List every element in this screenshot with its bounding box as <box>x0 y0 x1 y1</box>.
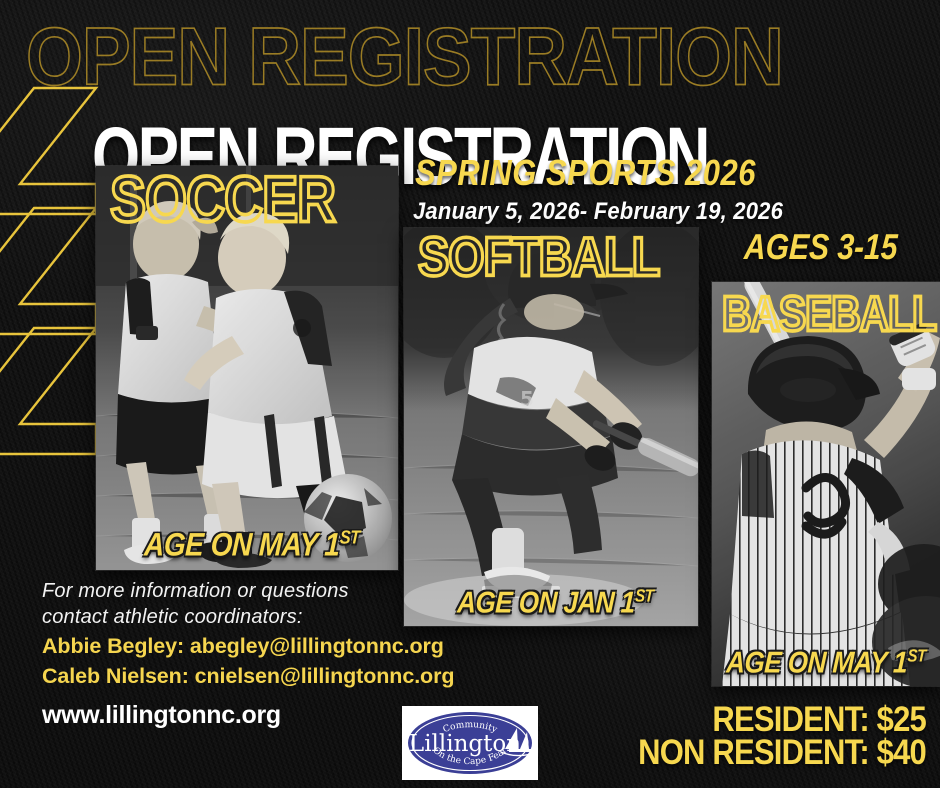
age-label-softball: AGE ON JAN 1ST <box>457 587 654 617</box>
age-label-soccer-suffix: ST <box>339 527 360 548</box>
contact-intro-line-1: For more information or questions <box>42 578 522 604</box>
age-label-baseball-suffix: ST <box>907 646 926 666</box>
fees-block: RESIDENT: $25 NON RESIDENT: $40 <box>638 700 926 767</box>
age-label-baseball: AGE ON MAY 1ST <box>726 647 927 677</box>
registration-date-range: January 5, 2026- February 19, 2026 <box>413 197 783 226</box>
age-label-soccer-text: AGE ON MAY 1 <box>143 527 340 563</box>
ghost-headline: OPEN REGISTRATION <box>26 16 940 97</box>
sport-panel-softball: 5 <box>404 228 698 626</box>
sport-title-baseball: BASEBALL <box>722 290 936 339</box>
age-label-softball-suffix: ST <box>635 586 654 606</box>
coordinator-email-1[interactable]: Abbie Begley: abegley@lillingtonnc.org <box>42 631 522 662</box>
contact-intro-line-2: contact athletic coordinators: <box>42 604 522 630</box>
sport-panel-baseball <box>712 282 940 686</box>
sport-title-softball: SOFTBALL <box>418 229 659 284</box>
baseball-photo <box>712 282 940 686</box>
age-label-soccer: AGE ON MAY 1ST <box>144 529 360 561</box>
softball-photo: 5 <box>404 228 698 626</box>
age-label-baseball-text: AGE ON MAY 1 <box>726 645 908 680</box>
fee-non-resident: NON RESIDENT: $40 <box>638 733 926 771</box>
sport-title-soccer: SOCCER <box>110 168 335 233</box>
subtitle-spring-sports: SPRING SPORTS 2026 <box>415 152 756 194</box>
ages-badge: AGES 3-15 <box>743 228 898 269</box>
lillington-logo-mark: Community Lillington On the Cape Fear <box>405 708 535 778</box>
lillington-logo[interactable]: Community Lillington On the Cape Fear <box>402 706 538 780</box>
poster-canvas: OPEN REGISTRATION OPEN REGISTRATION SPRI… <box>0 0 940 788</box>
age-label-softball-text: AGE ON JAN 1 <box>457 585 636 620</box>
coordinator-email-2[interactable]: Caleb Nielsen: cnielsen@lillingtonnc.org <box>42 661 522 692</box>
